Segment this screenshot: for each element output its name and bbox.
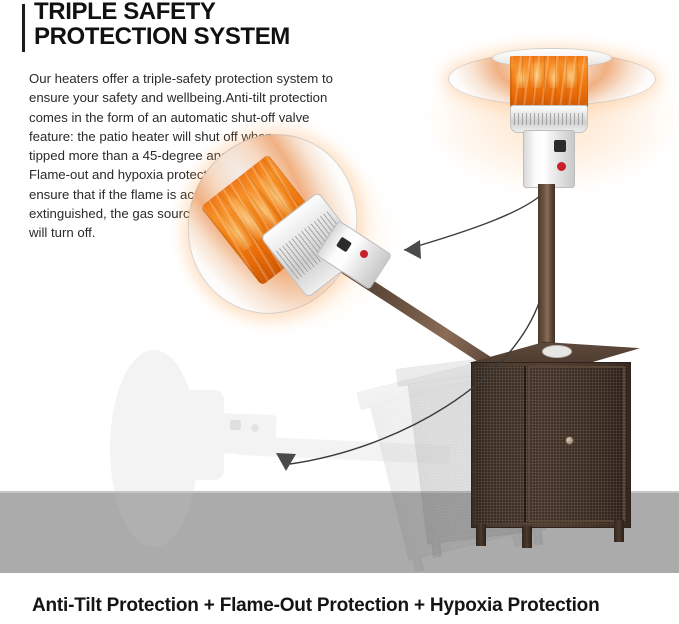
tilt-arrow-lower-head (276, 453, 296, 471)
tilt-arrow-group (0, 0, 679, 624)
product-feature-panel: TRIPLE SAFETY PROTECTION SYSTEM Our heat… (0, 0, 679, 624)
tilt-arrow-upper-head (404, 240, 421, 259)
feature-caption: Anti-Tilt Protection + Flame-Out Protect… (32, 595, 672, 617)
tilt-arrow-lower-path (290, 300, 540, 464)
tilt-arrow-upper-path (404, 196, 540, 250)
